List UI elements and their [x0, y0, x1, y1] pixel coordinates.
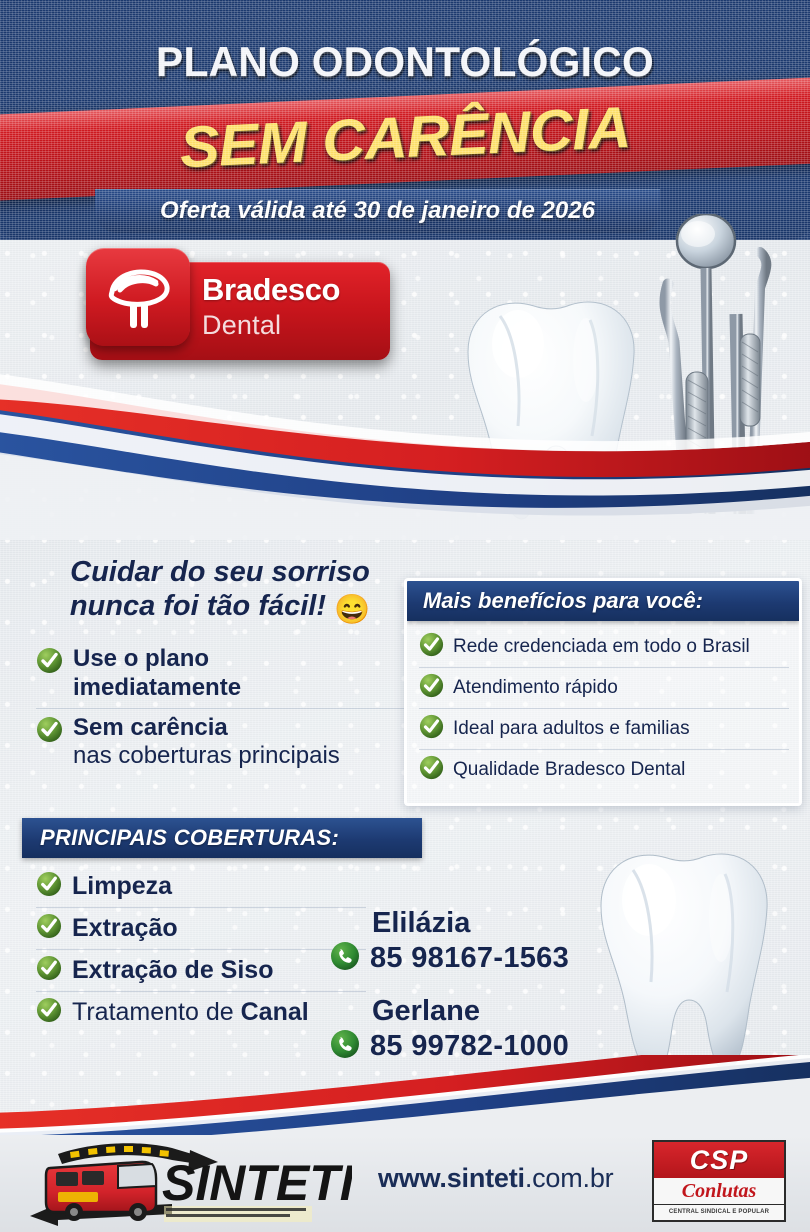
csp-conlutas-logo: CSP Conlutas CENTRAL SINDICAL E POPULAR: [652, 1140, 786, 1222]
benefits-panel-title: Mais benefícios para você:: [423, 588, 703, 614]
check-circle-icon: [419, 714, 444, 744]
check-circle-icon: [36, 871, 62, 902]
poster-root: PLANO ODONTOLÓGICO SEM CARÊNCIA Oferta v…: [0, 0, 810, 1232]
website-url-main: www.sinteti: [378, 1163, 525, 1193]
contact-name: Elilázia: [372, 908, 620, 940]
bradesco-segment: Dental: [202, 310, 281, 341]
csp-acronym: CSP: [690, 1145, 749, 1176]
list-item-label: Extração: [72, 914, 178, 943]
csp-tagline: CENTRAL SINDICAL E POPULAR: [669, 1209, 769, 1215]
list-item: Rede credenciada em todo o Brasil: [419, 627, 789, 667]
list-item: Tratamento de Canal: [36, 991, 366, 1033]
headline-block: Cuidar do seu sorriso nunca foi tão fáci…: [40, 556, 400, 627]
check-circle-icon: [36, 997, 62, 1028]
bradesco-wordmark: Bradesco: [202, 272, 340, 308]
headline-line-1: Cuidar do seu sorriso: [40, 556, 400, 590]
website-url-tld: .com.br: [525, 1163, 614, 1193]
coverage-title: PRINCIPAIS COBERTURAS:: [40, 825, 339, 851]
list-item: Use o plano imediatamente: [36, 640, 406, 708]
list-item: Qualidade Bradesco Dental: [419, 749, 789, 790]
left-benefits-list: Use o plano imediatamente Sem carência n…: [36, 640, 406, 776]
list-item-label: Limpeza: [72, 872, 172, 901]
header-banner: PLANO ODONTOLÓGICO SEM CARÊNCIA Oferta v…: [0, 0, 810, 240]
list-item-label-bold: Canal: [241, 998, 309, 1026]
check-circle-icon: [419, 673, 444, 703]
bradesco-logo-badge: [86, 248, 190, 346]
csp-banner: CSP: [654, 1142, 784, 1178]
phone-icon: [330, 1029, 360, 1064]
bradesco-dental-logo: Bradesco Dental: [90, 262, 390, 360]
list-item: Extração de Siso: [36, 949, 366, 991]
dental-tools-image: [648, 214, 808, 514]
list-item-label-bold: Sem carência: [73, 714, 228, 741]
coverage-list: Limpeza Extração Extração de Siso: [36, 866, 366, 1033]
benefits-panel-body: Rede credenciada em todo o Brasil Atendi…: [407, 621, 799, 790]
contact-row[interactable]: 85 99782-1000: [330, 1029, 620, 1064]
check-circle-icon: [36, 647, 63, 679]
check-circle-icon: [419, 755, 444, 785]
list-item-label-bold: Use o plano: [73, 645, 209, 672]
list-item-label-rest: nas coberturas principais: [73, 742, 340, 769]
offer-validity-text: Oferta válida até 30 de janeiro de 2026: [160, 197, 595, 225]
list-item: Limpeza: [36, 866, 366, 907]
list-item-label: Rede credenciada em todo o Brasil: [453, 636, 750, 658]
check-circle-icon: [36, 913, 62, 944]
list-item: Extração: [36, 907, 366, 949]
list-item-label: Extração de Siso: [72, 956, 273, 985]
headline-line-2: nunca foi tão fácil!: [70, 590, 326, 622]
tooth-illustration-top: [440, 286, 660, 531]
benefits-panel-header: Mais benefícios para você:: [407, 581, 799, 621]
list-item-label: Atendimento rápido: [453, 677, 618, 699]
list-item-label: Qualidade Bradesco Dental: [453, 759, 685, 781]
contacts-block: Elilázia 85 98167-1563 Gerlane: [330, 908, 620, 1064]
page-title: PLANO ODONTOLÓGICO: [12, 38, 798, 86]
csp-script-text: Conlutas: [682, 1180, 756, 1203]
list-item: Sem carência nas coberturas principais: [36, 708, 406, 777]
sinteti-logo[interactable]: SINTETI: [22, 1138, 352, 1230]
csp-tagline-row: CENTRAL SINDICAL E POPULAR: [654, 1205, 784, 1219]
coverage-header: PRINCIPAIS COBERTURAS:: [22, 818, 422, 858]
contact-phone: 85 98167-1563: [370, 942, 569, 975]
check-circle-icon: [36, 716, 63, 748]
check-circle-icon: [419, 632, 444, 662]
list-item-label: Tratamento de: [72, 998, 241, 1026]
list-item-label: Ideal para adultos e familias: [453, 718, 690, 740]
bradesco-tree-icon: [102, 262, 174, 337]
list-item: Atendimento rápido: [419, 667, 789, 708]
contact-phone: 85 99782-1000: [370, 1030, 569, 1063]
list-item: Ideal para adultos e familias: [419, 708, 789, 749]
benefits-panel: Mais benefícios para você: Rede credenci…: [404, 578, 802, 806]
contact-name: Gerlane: [372, 996, 620, 1028]
check-circle-icon: [36, 955, 62, 986]
list-item-label-rest: imediatamente: [73, 674, 241, 701]
smiley-emoji-icon: 😄: [334, 594, 370, 626]
offer-validity-badge: Oferta válida até 30 de janeiro de 2026: [95, 189, 660, 233]
phone-icon: [330, 941, 360, 976]
csp-script-row: Conlutas: [654, 1178, 784, 1205]
contact-row[interactable]: 85 98167-1563: [330, 941, 620, 976]
sinteti-wordmark: SINTETI: [162, 1155, 352, 1211]
website-url[interactable]: www.sinteti.com.br: [378, 1163, 613, 1194]
